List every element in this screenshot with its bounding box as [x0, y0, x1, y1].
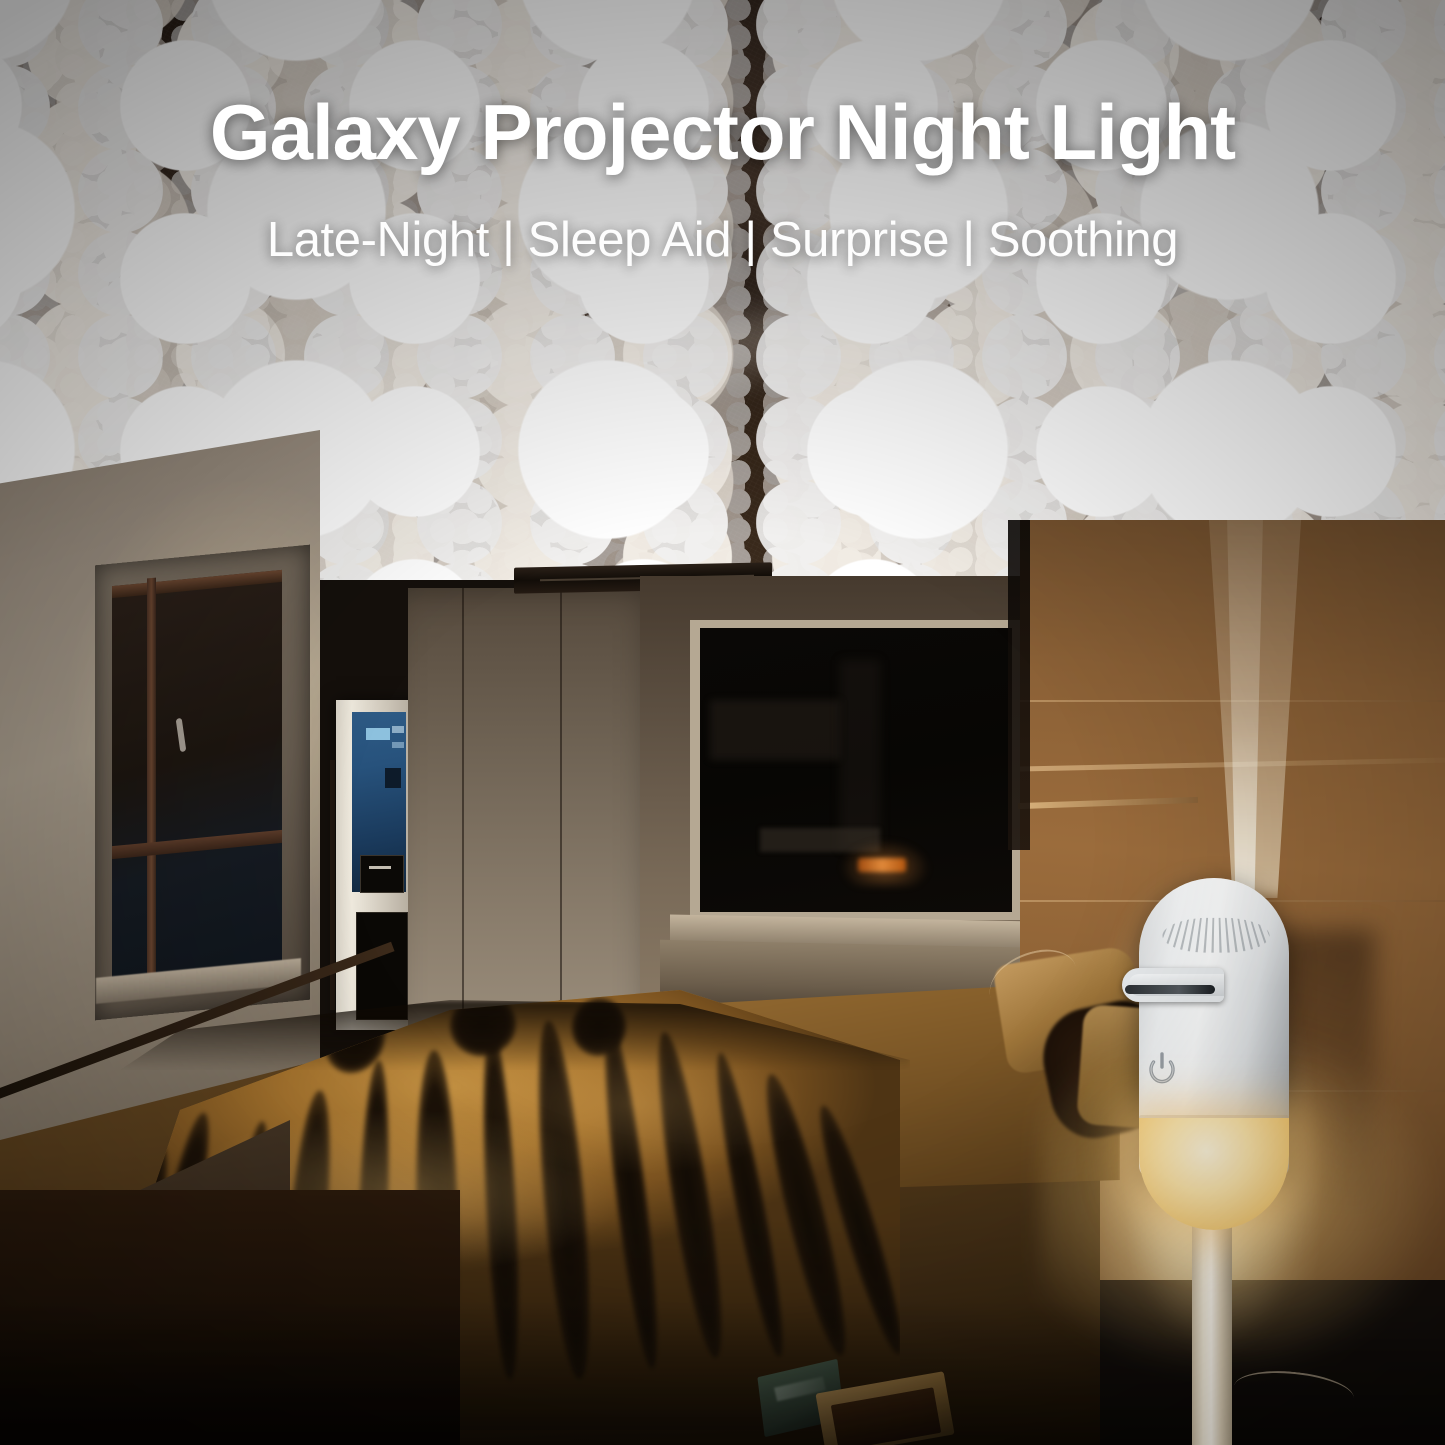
left-window-mullion: [147, 578, 156, 979]
lamp-hook-inner-strap: [1125, 985, 1215, 994]
product-hero-image: Galaxy Projector Night Light Late-Night …: [0, 0, 1445, 1445]
cabinet-label-chip: [392, 726, 404, 733]
page-subtitle: Late-Night | Sleep Aid | Surprise | Soot…: [0, 212, 1445, 268]
back-window-ember-light: [858, 858, 906, 872]
cabinet-label-chip-2: [392, 742, 404, 748]
back-window-reflection-2: [840, 660, 880, 850]
cabinet-drawer-lower: [356, 912, 408, 1020]
page-title: Galaxy Projector Night Light: [0, 92, 1445, 174]
cabinet-drawer-upper: [360, 855, 404, 893]
wardrobe-door-seam-2: [560, 588, 562, 1048]
wardrobe: [408, 588, 668, 1048]
cabinet-dark-chip: [385, 768, 401, 788]
wardrobe-door-seam-1: [462, 588, 464, 1048]
power-icon[interactable]: [1146, 1050, 1178, 1090]
left-window-glass: [112, 570, 282, 986]
lamp-stand-pole: [1192, 1220, 1232, 1445]
back-window-reflection: [710, 700, 840, 760]
cabinet-led-strip: [369, 866, 391, 869]
cabinet-light-chip: [366, 728, 390, 740]
